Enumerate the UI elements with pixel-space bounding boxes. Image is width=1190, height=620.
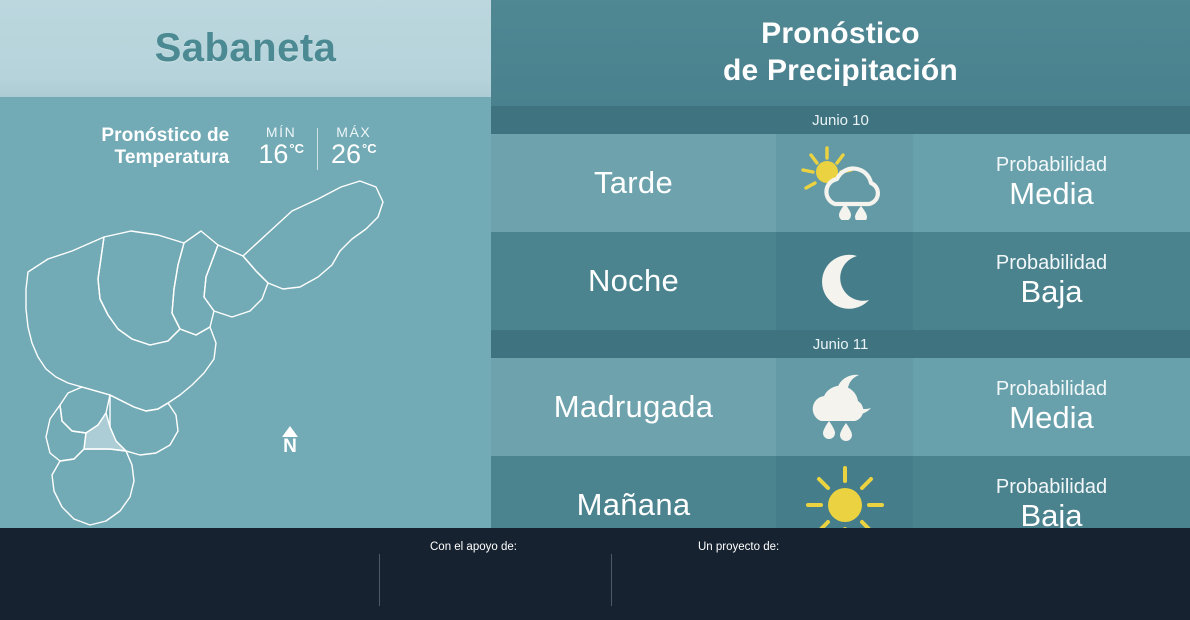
weather-forecast-infographic: Sabaneta Pronóstico de Temperatura MÍN 1… — [0, 0, 1190, 620]
footer: Con el apoyo de: Un proyecto de: SIATA e… — [0, 528, 1190, 620]
probability-label: Probabilidad — [996, 476, 1107, 499]
forecast-period-label: Tarde — [594, 165, 673, 201]
forecast-period-cell: Madrugada — [491, 358, 776, 456]
map-municipality-bello — [98, 231, 184, 345]
raindrop-icon — [823, 421, 835, 439]
sun-disc-icon — [828, 488, 862, 522]
precipitation-title-line2: de Precipitación — [723, 53, 958, 90]
city-name: Sabaneta — [155, 26, 337, 71]
temperature-min-unit: °C — [289, 141, 304, 156]
date-bar-day1: Junio 10 — [491, 106, 1190, 134]
probability-value: Media — [1009, 177, 1093, 211]
compass-north-icon: N — [277, 426, 303, 457]
compass-label: N — [277, 437, 303, 457]
footer-divider — [379, 554, 380, 606]
left-panel: Sabaneta Pronóstico de Temperatura MÍN 1… — [0, 0, 491, 528]
sun-cloud-rain-icon — [799, 146, 891, 220]
temperature-min-label: MÍN — [266, 124, 296, 140]
forecast-period-cell: Tarde — [491, 134, 776, 232]
map-municipality-sabaneta-highlighted — [84, 413, 126, 451]
precipitation-panel: Pronóstico de Precipitación Junio 10 Tar… — [491, 0, 1190, 528]
map-municipality-copacabana — [172, 231, 218, 335]
project-caption: Un proyecto de: — [698, 541, 779, 553]
support-caption: Con el apoyo de: — [430, 541, 517, 553]
cloud-icon — [812, 386, 863, 421]
forecast-row[interactable]: Madrugada Probabilidad Media — [491, 358, 1190, 456]
temperature-max-unit: °C — [362, 141, 377, 156]
probability-label: Probabilidad — [996, 154, 1107, 177]
forecast-row[interactable]: Tarde — [491, 134, 1190, 232]
raindrop-icon — [855, 206, 867, 220]
city-banner: Sabaneta — [0, 0, 491, 97]
forecast-probability-cell: Probabilidad Baja — [913, 232, 1190, 330]
temperature-max-label: MÁX — [336, 124, 371, 140]
forecast-row[interactable]: Noche Probabilidad Baja — [491, 232, 1190, 330]
temperature-title-line1: Pronóstico de — [101, 125, 229, 147]
map-municipality-barbosa — [243, 181, 383, 289]
forecast-period-label: Noche — [588, 263, 679, 299]
raindrop-icon — [839, 204, 851, 220]
crescent-moon-shape — [822, 255, 869, 309]
forecast-period-cell: Noche — [491, 232, 776, 330]
moon-cloud-rain-icon — [801, 369, 889, 445]
forecast-probability-cell: Probabilidad Media — [913, 358, 1190, 456]
moon-icon — [810, 246, 880, 316]
map-municipality-caldas — [52, 449, 134, 525]
forecast-probability-cell: Probabilidad Media — [913, 134, 1190, 232]
forecast-icon-cell — [776, 134, 913, 232]
probability-value: Baja — [1020, 275, 1082, 309]
aburra-valley-map — [0, 159, 491, 528]
footer-divider — [611, 554, 612, 606]
forecast-period-label: Mañana — [577, 487, 691, 523]
probability-label: Probabilidad — [996, 252, 1107, 275]
probability-label: Probabilidad — [996, 378, 1107, 401]
forecast-period-label: Madrugada — [554, 389, 714, 425]
map-area: Pronóstico de Temperatura MÍN 16°C MÁX 2… — [0, 97, 491, 528]
precipitation-title-line1: Pronóstico — [761, 16, 920, 53]
forecast-icon-cell — [776, 358, 913, 456]
raindrop-icon — [840, 423, 852, 441]
date-bar-day2: Junio 11 — [491, 330, 1190, 358]
forecast-icon-cell — [776, 232, 913, 330]
map-municipality-medellin — [26, 237, 216, 411]
probability-value: Media — [1009, 401, 1093, 435]
precipitation-header: Pronóstico de Precipitación — [491, 0, 1190, 106]
